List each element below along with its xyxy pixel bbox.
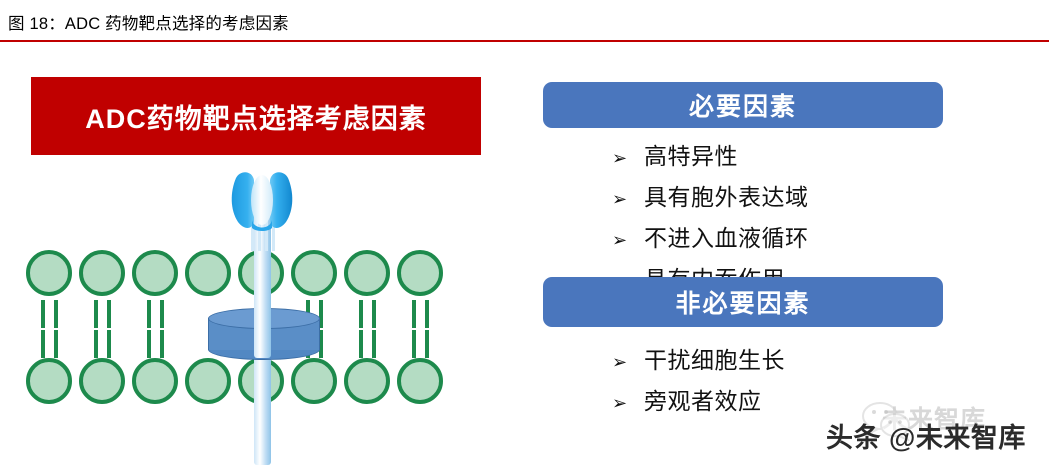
lipid-head-icon [26, 250, 72, 296]
phospholipid-bottom [26, 358, 80, 412]
lipid-head-icon [344, 250, 390, 296]
lipid-tail [54, 330, 58, 358]
receptor-stem-intracellular [254, 345, 271, 465]
arrow-bullet-icon: ➢ [612, 148, 644, 169]
list-item: ➢ 不进入血液循环 [612, 219, 809, 253]
lipid-head-icon [26, 358, 72, 404]
cell-membrane-diagram [26, 160, 496, 460]
lipid-head-icon [185, 250, 231, 296]
phospholipid-bottom [79, 358, 133, 412]
lipid-head-icon [291, 250, 337, 296]
caption-divider [0, 40, 1049, 42]
section-header-required: 必要因素 [543, 82, 943, 128]
phospholipid-bottom [185, 358, 239, 412]
phospholipid-top [344, 250, 398, 304]
list-item-label: 具有胞外表达域 [644, 178, 809, 212]
lipid-tail [54, 300, 58, 328]
optional-factors-list: ➢ 干扰细胞生长 ➢ 旁观者效应 [612, 341, 785, 423]
list-item: ➢ 具有胞外表达域 [612, 178, 809, 212]
phospholipid-bottom [291, 358, 345, 412]
arrow-bullet-icon: ➢ [612, 352, 644, 373]
lipid-tail [412, 300, 416, 328]
phospholipid-top [397, 250, 451, 304]
lipid-tail [359, 300, 363, 328]
arrow-bullet-icon: ➢ [612, 189, 644, 210]
lipid-tail [372, 330, 376, 358]
lipid-tail [107, 300, 111, 328]
section-header-optional: 非必要因素 [543, 277, 943, 327]
watermark-label: 头条 @未来智库 [826, 416, 1026, 455]
lipid-head-icon [132, 250, 178, 296]
list-item-label: 旁观者效应 [644, 382, 762, 416]
phospholipid-bottom [132, 358, 186, 412]
phospholipid-bottom [344, 358, 398, 412]
lipid-tail [94, 300, 98, 328]
figure-caption: 图 18：ADC 药物靶点选择的考虑因素 [8, 10, 289, 34]
lipid-tail [359, 330, 363, 358]
lipid-tail [147, 300, 151, 328]
phospholipid-top [26, 250, 80, 304]
phospholipid-top [79, 250, 133, 304]
lipid-head-icon [397, 358, 443, 404]
phospholipid-bottom [397, 358, 451, 412]
red-title-banner: ADC药物靶点选择考虑因素 [31, 77, 481, 155]
list-item: ➢ 高特异性 [612, 137, 809, 171]
lipid-tail [41, 300, 45, 328]
list-item: ➢ 干扰细胞生长 [612, 341, 785, 375]
section-header-label: 必要因素 [689, 87, 797, 123]
lipid-tail [425, 330, 429, 358]
list-item-label: 干扰细胞生长 [644, 341, 785, 375]
lipid-tail [160, 300, 164, 328]
lipid-head-icon [344, 358, 390, 404]
figure-page: 图 18：ADC 药物靶点选择的考虑因素 ADC药物靶点选择考虑因素 [0, 0, 1049, 467]
lipid-head-icon [79, 250, 125, 296]
lipid-tail [412, 330, 416, 358]
lipid-head-icon [397, 250, 443, 296]
phospholipid-top [185, 250, 239, 304]
lipid-head-icon [132, 358, 178, 404]
red-banner-label: ADC药物靶点选择考虑因素 [85, 97, 427, 136]
arrow-bullet-icon: ➢ [612, 393, 644, 414]
lipid-tail [425, 300, 429, 328]
list-item-label: 不进入血液循环 [644, 219, 809, 253]
list-item: ➢ 旁观者效应 [612, 382, 785, 416]
lipid-head-icon [185, 358, 231, 404]
lipid-tail [372, 300, 376, 328]
receptor-head-icon [230, 170, 294, 232]
arrow-bullet-icon: ➢ [612, 230, 644, 251]
watermark: 未来智库 头条 @未来智库 [826, 398, 1041, 458]
receptor-binding-head [230, 170, 294, 232]
lipid-tail [147, 330, 151, 358]
phospholipid-top [132, 250, 186, 304]
phospholipid-top [291, 250, 345, 304]
lipid-tail [94, 330, 98, 358]
section-header-label: 非必要因素 [675, 284, 810, 320]
lipid-tail [160, 330, 164, 358]
lipid-tail [107, 330, 111, 358]
lipid-tail [41, 330, 45, 358]
lipid-head-icon [291, 358, 337, 404]
list-item-label: 高特异性 [644, 137, 738, 171]
lipid-head-icon [79, 358, 125, 404]
